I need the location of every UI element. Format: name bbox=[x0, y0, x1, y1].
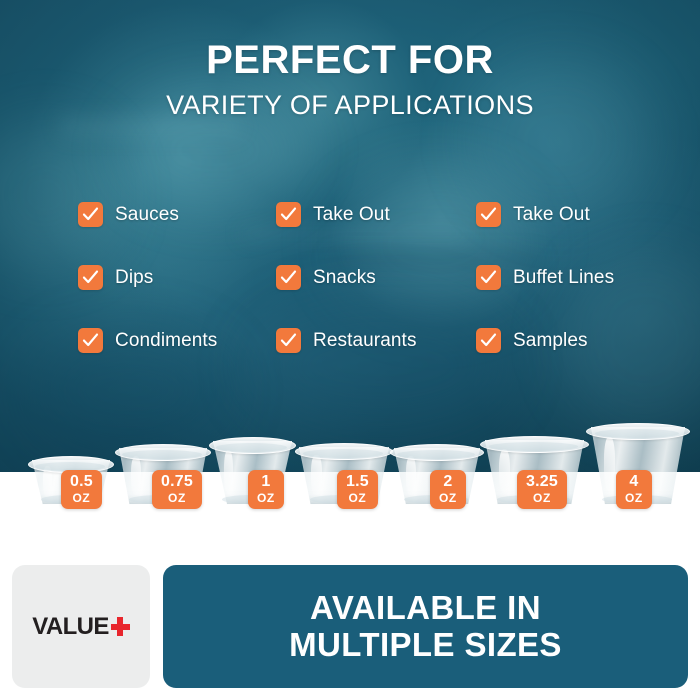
size-badge-unit: OZ bbox=[70, 492, 93, 504]
brand-logo-card: VALUE bbox=[12, 565, 150, 688]
size-badge-value: 2 bbox=[439, 474, 457, 490]
check-mark-icon bbox=[276, 265, 301, 290]
size-badge-unit: OZ bbox=[439, 492, 457, 504]
size-badge-value: 3.25 bbox=[526, 474, 558, 490]
size-badge: 1.5 OZ bbox=[337, 470, 378, 509]
promo-banner-line-2: MULTIPLE SIZES bbox=[289, 627, 562, 664]
checklist-item: Sauces bbox=[78, 202, 276, 227]
checklist-item: Restaurants bbox=[276, 328, 476, 353]
product-infographic: PERFECT FOR VARIETY OF APPLICATIONS Sauc… bbox=[0, 0, 700, 700]
checklist-item-label: Condiments bbox=[115, 330, 217, 352]
red-plus-icon bbox=[111, 617, 130, 636]
checklist-item-label: Take Out bbox=[313, 204, 390, 226]
checklist-item: Dips bbox=[78, 265, 276, 290]
size-badge-unit: OZ bbox=[526, 492, 558, 504]
check-mark-icon bbox=[78, 265, 103, 290]
size-badge: 0.5 OZ bbox=[61, 470, 102, 509]
checklist-item: Take Out bbox=[276, 202, 476, 227]
checklist-item-label: Snacks bbox=[313, 267, 376, 289]
size-badge: 4 OZ bbox=[616, 470, 652, 509]
size-badge-value: 0.75 bbox=[161, 474, 193, 490]
check-mark-icon bbox=[276, 328, 301, 353]
checklist-item: Samples bbox=[476, 328, 648, 353]
size-badge: 3.25 OZ bbox=[517, 470, 567, 509]
checklist-item-label: Samples bbox=[513, 330, 588, 352]
hero-titles: PERFECT FOR VARIETY OF APPLICATIONS bbox=[0, 40, 700, 119]
checklist-item-label: Take Out bbox=[513, 204, 590, 226]
checklist-item-label: Restaurants bbox=[313, 330, 417, 352]
check-mark-icon bbox=[476, 328, 501, 353]
promo-banner: AVAILABLE IN MULTIPLE SIZES bbox=[163, 565, 688, 688]
checklist-item-label: Buffet Lines bbox=[513, 267, 614, 289]
checklist-item-label: Sauces bbox=[115, 204, 179, 226]
checklist-item-label: Dips bbox=[115, 267, 153, 289]
size-badge-unit: OZ bbox=[625, 492, 643, 504]
page-title: PERFECT FOR bbox=[0, 40, 700, 80]
brand-logo-text: VALUE bbox=[32, 613, 109, 641]
size-badge-unit: OZ bbox=[257, 492, 275, 504]
checklist-item: Take Out bbox=[476, 202, 648, 227]
checklist-item: Buffet Lines bbox=[476, 265, 648, 290]
size-badge-unit: OZ bbox=[346, 492, 369, 504]
promo-banner-line-1: AVAILABLE IN bbox=[310, 590, 541, 627]
check-mark-icon bbox=[476, 202, 501, 227]
size-badge-unit: OZ bbox=[161, 492, 193, 504]
application-checklist: Sauces Take Out Take Out Dips Snacks bbox=[78, 183, 648, 372]
check-mark-icon bbox=[78, 328, 103, 353]
brand-logo: VALUE bbox=[32, 613, 130, 641]
size-badge: 0.75 OZ bbox=[152, 470, 202, 509]
size-badge-value: 0.5 bbox=[70, 474, 93, 490]
size-badge: 1 OZ bbox=[248, 470, 284, 509]
check-mark-icon bbox=[276, 202, 301, 227]
size-badge-value: 1.5 bbox=[346, 474, 369, 490]
check-mark-icon bbox=[476, 265, 501, 290]
checklist-item: Snacks bbox=[276, 265, 476, 290]
size-badge: 2 OZ bbox=[430, 470, 466, 509]
size-badges: 0.5 OZ 0.75 OZ 1 OZ 1.5 OZ 2 OZ 3.25 OZ … bbox=[0, 470, 700, 510]
check-mark-icon bbox=[78, 202, 103, 227]
page-subtitle: VARIETY OF APPLICATIONS bbox=[0, 92, 700, 119]
size-badge-value: 1 bbox=[257, 474, 275, 490]
size-badge-value: 4 bbox=[625, 474, 643, 490]
checklist-item: Condiments bbox=[78, 328, 276, 353]
